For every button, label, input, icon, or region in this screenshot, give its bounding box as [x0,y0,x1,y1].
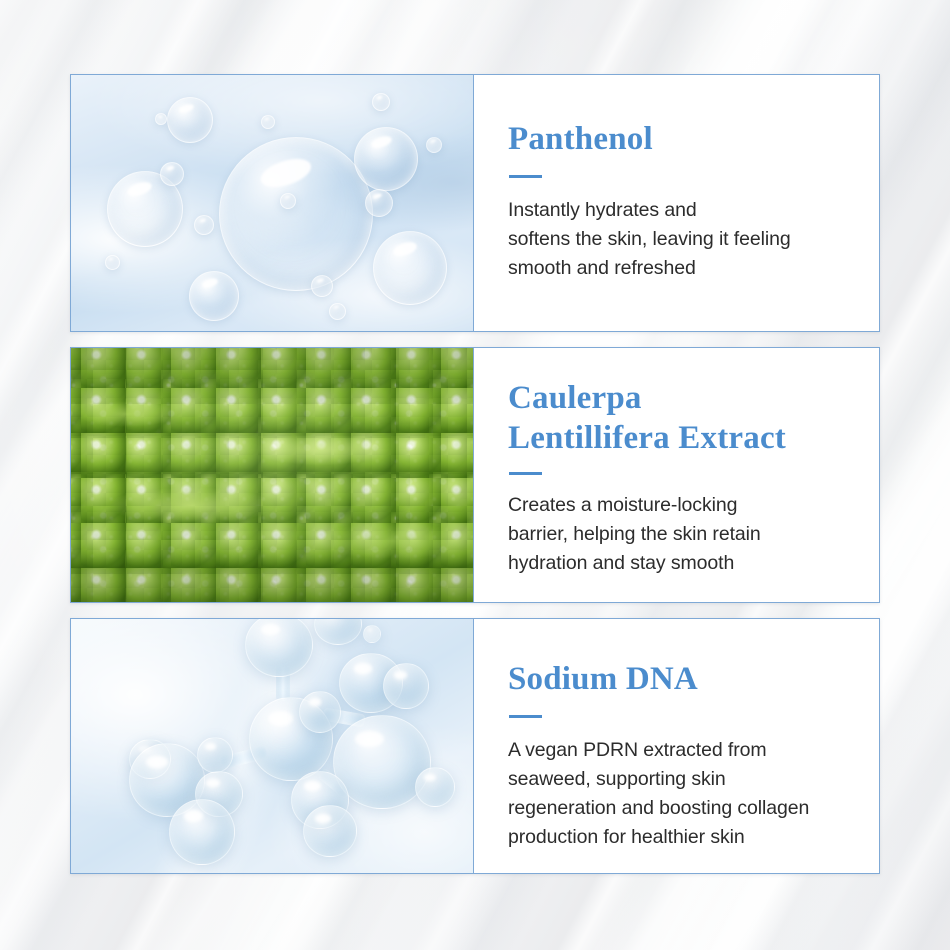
bubble-small-icon [105,255,120,270]
ingredient-card-sodium-dna[interactable]: Sodium DNA A vegan PDRN extracted from s… [70,618,880,874]
bubble-icon [373,231,447,305]
bubble-small-icon [160,162,184,186]
bubble-small-icon [426,137,442,153]
caulerpa-lentillifera-extract-image [71,348,474,602]
molecule-sphere [169,799,235,865]
sodium-dna-description: A vegan PDRN extracted from seaweed, sup… [508,736,853,852]
molecule-sphere [197,737,233,773]
bubble-icon [189,271,239,321]
bubble-small-icon [194,215,214,235]
panthenol-text-block: Panthenol Instantly hydrates and softens… [474,75,879,331]
ingredient-card-list: Panthenol Instantly hydrates and softens… [70,74,880,874]
sodium-dna-title: Sodium DNA [508,659,853,699]
panthenol-description: Instantly hydrates and softens the skin,… [508,196,853,283]
caulerpa-lentillifera-extract-description: Creates a moisture-locking barrier, help… [508,491,853,578]
ingredient-infographic-page: Panthenol Instantly hydrates and softens… [0,0,950,950]
molecule-sphere [299,691,341,733]
bubble-small-icon [329,303,346,320]
bubble-small-icon [311,275,333,297]
title-underline-rule [509,715,542,718]
bubble-small-icon [280,193,296,209]
caulerpa-lentillifera-extract-text-block: Caulerpa Lentillifera Extract Creates a … [474,348,879,602]
bubble-icon [354,127,418,191]
bubble-large-icon [219,137,373,291]
sodium-dna-image [71,619,474,873]
caulerpa-lentillifera-extract-title: Caulerpa Lentillifera Extract [508,378,853,458]
ingredient-card-caulerpa-lentillifera-extract[interactable]: Caulerpa Lentillifera Extract Creates a … [70,347,880,603]
sea-grape-shading-layer [71,348,473,602]
ingredient-card-panthenol[interactable]: Panthenol Instantly hydrates and softens… [70,74,880,332]
molecule-sphere [415,767,455,807]
title-underline-rule [509,472,542,475]
title-underline-rule [509,175,542,178]
panthenol-image [71,75,474,331]
bubble-small-icon [155,113,167,125]
sodium-dna-text-block: Sodium DNA A vegan PDRN extracted from s… [474,619,879,873]
panthenol-title: Panthenol [508,119,853,159]
bubble-icon [167,97,213,143]
bubble-small-icon [261,115,275,129]
bubble-small-icon [365,189,393,217]
molecule-sphere [383,663,429,709]
molecule-sphere [303,805,357,857]
bubble-small-icon [372,93,390,111]
molecule-sphere-small [363,625,381,643]
